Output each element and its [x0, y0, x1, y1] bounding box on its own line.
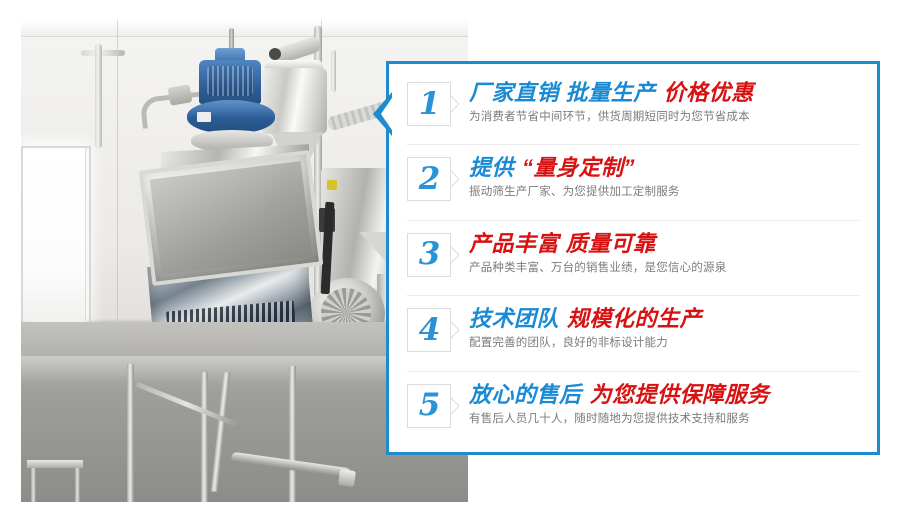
feature-item-4[interactable]: 4 技术团队规模化的生产 配置完善的团队，良好的非标设计能力 — [407, 296, 859, 371]
feature-item-1[interactable]: 1 厂家直销 批量生产价格优惠 为消费者节省中间环节，供货周期短同时为您节省成本 — [407, 70, 859, 145]
feature-text-2: 提供“量身定制” 振动筛生产厂家、为您提供加工定制服务 — [469, 155, 859, 200]
feature-item-3[interactable]: 3 产品丰富 质量可靠 产品种类丰富、万台的销售业绩，是您信心的源泉 — [407, 221, 859, 296]
hinged-hood-door — [139, 150, 324, 286]
headline-part-red: 产品丰富 质量可靠 — [469, 231, 656, 256]
side-table-leg — [75, 468, 80, 502]
conduit-junction-box — [168, 84, 193, 106]
feature-item-5[interactable]: 5 放心的售后为您提供保障服务 有售后人员几十人，随时随地为您提供技术支持和服务 — [407, 372, 859, 446]
feature-subtitle-5: 有售后人员几十人，随时随地为您提供技术支持和服务 — [469, 412, 859, 427]
feature-number-badge-1: 1 — [407, 82, 451, 126]
feature-number: 2 — [419, 164, 440, 195]
frame-leg — [289, 366, 296, 502]
feature-headline-4: 技术团队规模化的生产 — [469, 306, 859, 332]
feature-text-1: 厂家直销 批量生产价格优惠 为消费者节省中间环节，供货周期短同时为您节省成本 — [469, 80, 859, 125]
feature-text-5: 放心的售后为您提供保障服务 有售后人员几十人，随时随地为您提供技术支持和服务 — [469, 382, 859, 427]
side-table-leg — [31, 468, 36, 502]
panel-pointer-notch — [370, 92, 392, 136]
window-frame — [21, 146, 91, 328]
feature-subtitle-1: 为消费者节省中间环节，供货周期短同时为您节省成本 — [469, 110, 859, 125]
headline-part-blue: 厂家直销 批量生产 — [469, 80, 656, 105]
number-box: 1 — [407, 82, 451, 126]
motor-cooling-fins — [207, 66, 253, 96]
feature-number-badge-2: 2 — [407, 157, 451, 201]
feature-number: 3 — [419, 239, 440, 270]
feature-item-2[interactable]: 2 提供“量身定制” 振动筛生产厂家、为您提供加工定制服务 — [407, 145, 859, 220]
number-arrow-icon — [450, 95, 459, 113]
feature-text-4: 技术团队规模化的生产 配置完善的团队，良好的非标设计能力 — [469, 306, 859, 351]
feature-headline-3: 产品丰富 质量可靠 — [469, 231, 859, 257]
vertical-pipe — [331, 50, 336, 92]
feature-subtitle-4: 配置完善的团队，良好的非标设计能力 — [469, 336, 859, 351]
vessel-knob — [269, 48, 281, 60]
number-arrow-icon — [450, 246, 459, 264]
headline-part-blue: 放心的售后 — [469, 382, 582, 407]
headline-part-blue: 技术团队 — [469, 306, 559, 331]
feature-list: 1 厂家直销 批量生产价格优惠 为消费者节省中间环节，供货周期短同时为您节省成本 — [389, 64, 877, 452]
number-arrow-icon — [450, 397, 459, 415]
number-box: 2 — [407, 157, 451, 201]
yellow-tag — [327, 180, 337, 190]
number-box: 3 — [407, 233, 451, 277]
number-arrow-icon — [450, 170, 459, 188]
ceiling-pipe — [95, 44, 102, 148]
feature-headline-5: 放心的售后为您提供保障服务 — [469, 382, 859, 408]
feature-number: 4 — [419, 315, 440, 346]
side-table — [27, 460, 83, 468]
feature-number-badge-5: 5 — [407, 384, 451, 428]
motor-nameplate — [197, 112, 211, 122]
number-box: 5 — [407, 384, 451, 428]
number-box: 4 — [407, 308, 451, 352]
feature-subtitle-3: 产品种类丰富、万台的销售业绩，是您信心的源泉 — [469, 261, 859, 276]
headline-part-red: 规模化的生产 — [567, 306, 702, 331]
cleanroom-ceiling — [21, 20, 468, 37]
ceiling-pipe — [81, 50, 125, 56]
feature-subtitle-2: 振动筛生产厂家、为您提供加工定制服务 — [469, 185, 859, 200]
feature-number-badge-3: 3 — [407, 233, 451, 277]
feature-number-badge-4: 4 — [407, 308, 451, 352]
hood-panel — [150, 161, 313, 275]
headline-part-blue: 提供 — [469, 155, 514, 180]
feature-headline-1: 厂家直销 批量生产价格优惠 — [469, 80, 859, 106]
frame-leg — [201, 372, 208, 502]
feature-panel: 1 厂家直销 批量生产价格优惠 为消费者节省中间环节，供货周期短同时为您节省成本 — [386, 61, 880, 455]
headline-part-red: 为您提供保障服务 — [590, 382, 770, 407]
outlet-pipe-flange — [338, 469, 356, 487]
wall-seam — [117, 20, 118, 340]
headline-part-red: “量身定制” — [522, 155, 635, 180]
headline-part-red: 价格优惠 — [664, 80, 754, 105]
frame-leg — [127, 364, 134, 502]
feature-headline-2: 提供“量身定制” — [469, 155, 859, 181]
feature-number: 1 — [419, 89, 440, 120]
banner-stage: 1 厂家直销 批量生产价格优惠 为消费者节省中间环节，供货周期短同时为您节省成本 — [0, 0, 898, 518]
number-arrow-icon — [450, 321, 459, 339]
feature-number: 5 — [419, 390, 440, 421]
feature-text-3: 产品丰富 质量可靠 产品种类丰富、万台的销售业绩，是您信心的源泉 — [469, 231, 859, 276]
